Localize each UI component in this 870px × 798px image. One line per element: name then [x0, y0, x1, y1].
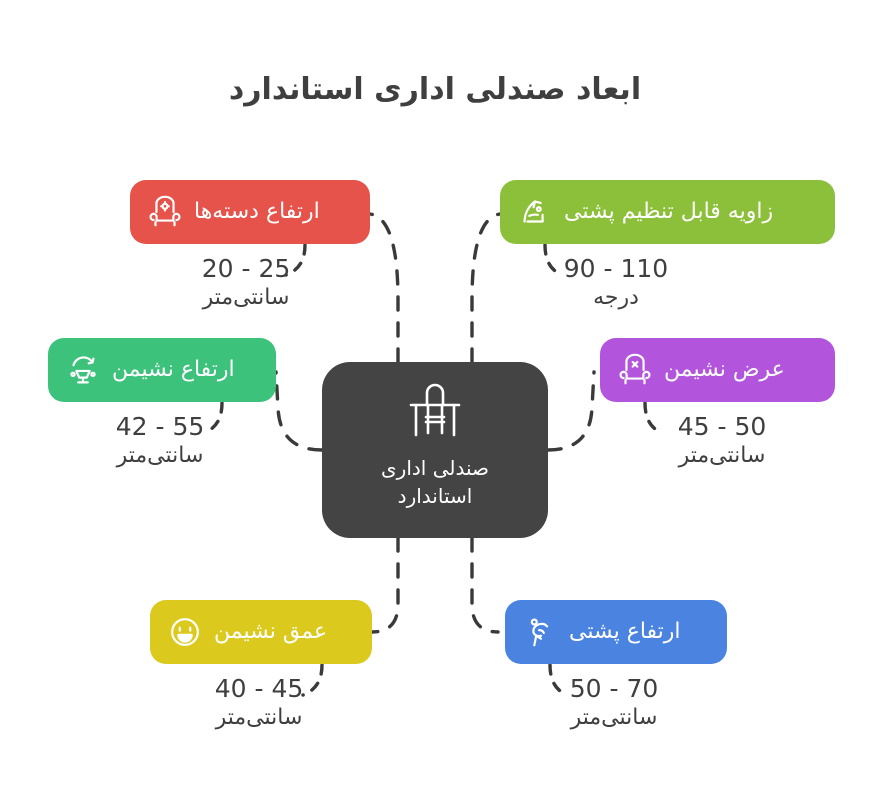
node-seat-width[interactable]: عرض نشیمن	[600, 338, 835, 402]
armchair-gear-icon	[146, 193, 184, 231]
armchair-width-icon	[616, 351, 654, 389]
center-node[interactable]: صندلی اداری استاندارد	[322, 362, 548, 538]
caption-backrest-height: 50 - 70 سانتی‌متر	[503, 674, 725, 732]
node-label-armrest-height: ارتفاع دسته‌ها	[194, 201, 320, 223]
caption-armrest-height: 20 - 25 سانتی‌متر	[128, 254, 364, 312]
center-node-label: صندلی اداری استاندارد	[381, 455, 489, 510]
node-backrest-height[interactable]: ارتفاع پشتی	[505, 600, 727, 664]
node-label-seat-width: عرض نشیمن	[664, 359, 785, 381]
value-backrest-angle: 90 - 110	[498, 254, 734, 284]
node-label-backrest-height: ارتفاع پشتی	[569, 621, 681, 643]
node-backrest-angle[interactable]: زاویه قابل تنظیم پشتی	[500, 180, 835, 244]
center-label-line-2: استاندارد	[398, 484, 473, 508]
caption-backrest-angle: 90 - 110 درجه	[498, 254, 734, 312]
unit-armrest-height: سانتی‌متر	[128, 284, 364, 313]
connector-armrest-height	[370, 214, 398, 362]
page-title: ابعاد صندلی اداری استاندارد	[0, 72, 870, 107]
reclining-chair-icon	[516, 193, 554, 231]
node-seat-depth[interactable]: عمق نشیمن	[150, 600, 372, 664]
node-label-seat-depth: عمق نشیمن	[214, 621, 327, 643]
infographic-canvas: ابعاد صندلی اداری استاندارد	[0, 0, 870, 798]
smiley-face-icon	[166, 613, 204, 651]
connector-seat-width	[548, 372, 594, 450]
node-label-seat-height: ارتفاع نشیمن	[112, 359, 235, 381]
connector-backrest-angle	[472, 214, 500, 362]
value-armrest-height: 20 - 25	[128, 254, 364, 284]
unit-seat-depth: سانتی‌متر	[148, 704, 370, 733]
value-seat-depth: 40 - 45	[148, 674, 370, 704]
unit-backrest-angle: درجه	[498, 284, 734, 313]
node-label-backrest-angle: زاویه قابل تنظیم پشتی	[564, 201, 773, 223]
connector-seat-height	[276, 372, 322, 450]
seat-height-gauge-icon	[64, 351, 102, 389]
center-label-line-1: صندلی اداری	[381, 456, 489, 480]
person-back-posture-icon	[521, 613, 559, 651]
desk-chair-icon	[403, 383, 467, 447]
connector-seat-depth	[372, 538, 398, 632]
node-armrest-height[interactable]: ارتفاع دسته‌ها	[130, 180, 370, 244]
value-backrest-height: 50 - 70	[503, 674, 725, 704]
caption-seat-height: 42 - 55 سانتی‌متر	[46, 412, 274, 470]
caption-seat-depth: 40 - 45 سانتی‌متر	[148, 674, 370, 732]
value-seat-width: 45 - 50	[604, 412, 840, 442]
unit-seat-height: سانتی‌متر	[46, 442, 274, 471]
unit-seat-width: سانتی‌متر	[604, 442, 840, 471]
unit-backrest-height: سانتی‌متر	[503, 704, 725, 733]
node-seat-height[interactable]: ارتفاع نشیمن	[48, 338, 276, 402]
caption-seat-width: 45 - 50 سانتی‌متر	[604, 412, 840, 470]
connector-backrest-height	[472, 538, 498, 632]
value-seat-height: 42 - 55	[46, 412, 274, 442]
